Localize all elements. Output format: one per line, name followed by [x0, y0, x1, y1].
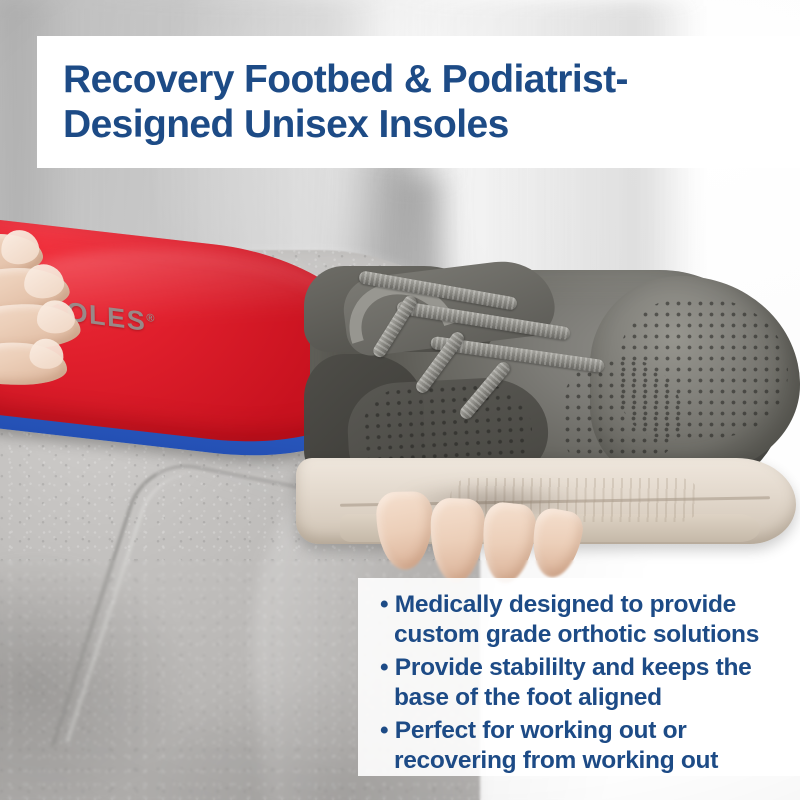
list-item: Medically designed to provide custom gra… [380, 590, 786, 651]
finger [478, 501, 538, 586]
sneaker-perforation-vamp [562, 358, 682, 470]
headline-line-2: Designed Unisex Insoles [63, 103, 509, 146]
list-item: Perfect for working out or recovering fr… [380, 716, 786, 777]
feature-bullets-panel: Medically designed to provide custom gra… [358, 578, 800, 776]
finger [429, 498, 486, 584]
list-item: Provide stabililty and keeps the base of… [380, 653, 786, 714]
fingernail [37, 300, 75, 333]
finger [376, 491, 433, 570]
page-title: Recovery Footbed & Podiatrist-Designed U… [63, 57, 628, 147]
headline-banner: Recovery Footbed & Podiatrist-Designed U… [37, 36, 800, 168]
headline-line-1: Recovery Footbed & Podiatrist- [63, 58, 628, 101]
finger [527, 506, 586, 581]
feature-bullet-list: Medically designed to provide custom gra… [380, 590, 786, 776]
product-image-canvas: SOLES® [0, 0, 800, 800]
